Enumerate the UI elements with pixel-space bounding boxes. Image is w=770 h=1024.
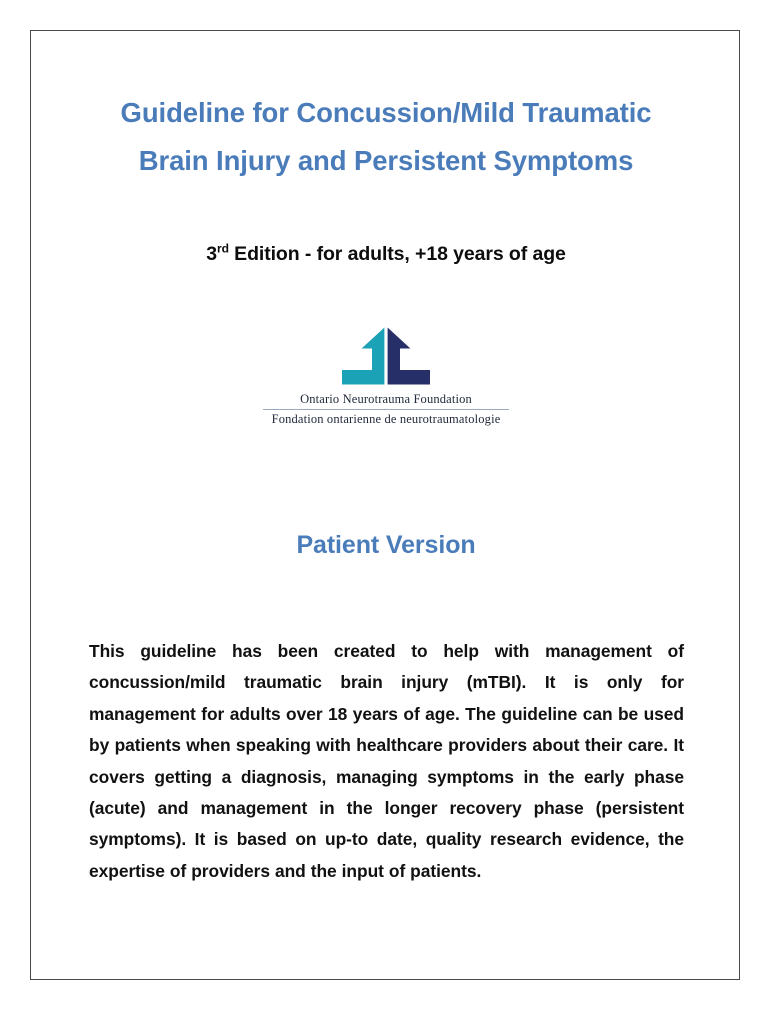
logo-divider-rule: [263, 409, 509, 410]
logo-text-english: Ontario Neurotrauma Foundation: [298, 392, 474, 408]
edition-subtitle: 3rd Edition - for adults, +18 years of a…: [71, 243, 701, 266]
logo-mark-icon: [334, 327, 438, 385]
logo-wordmark: Ontario Neurotrauma Foundation Fondation…: [71, 392, 701, 427]
intro-paragraph: This guideline has been created to help …: [89, 636, 684, 887]
page-title: Guideline for Concussion/Mild Traumatic …: [71, 89, 701, 185]
section-heading-patient-version: Patient Version: [71, 531, 701, 560]
organization-logo: Ontario Neurotrauma Foundation Fondation…: [71, 327, 701, 427]
page-title-line-2: Brain Injury and Persistent Symptoms: [71, 137, 701, 185]
page-title-line-1: Guideline for Concussion/Mild Traumatic: [71, 89, 701, 137]
edition-number: 3: [206, 243, 217, 265]
edition-ordinal-suffix: rd: [217, 242, 229, 256]
page-content: Guideline for Concussion/Mild Traumatic …: [31, 31, 739, 979]
document-page: Guideline for Concussion/Mild Traumatic …: [30, 30, 740, 980]
edition-description: Edition - for adults, +18 years of age: [229, 243, 566, 265]
logo-text-french: Fondation ontarienne de neurotraumatolog…: [272, 412, 501, 427]
